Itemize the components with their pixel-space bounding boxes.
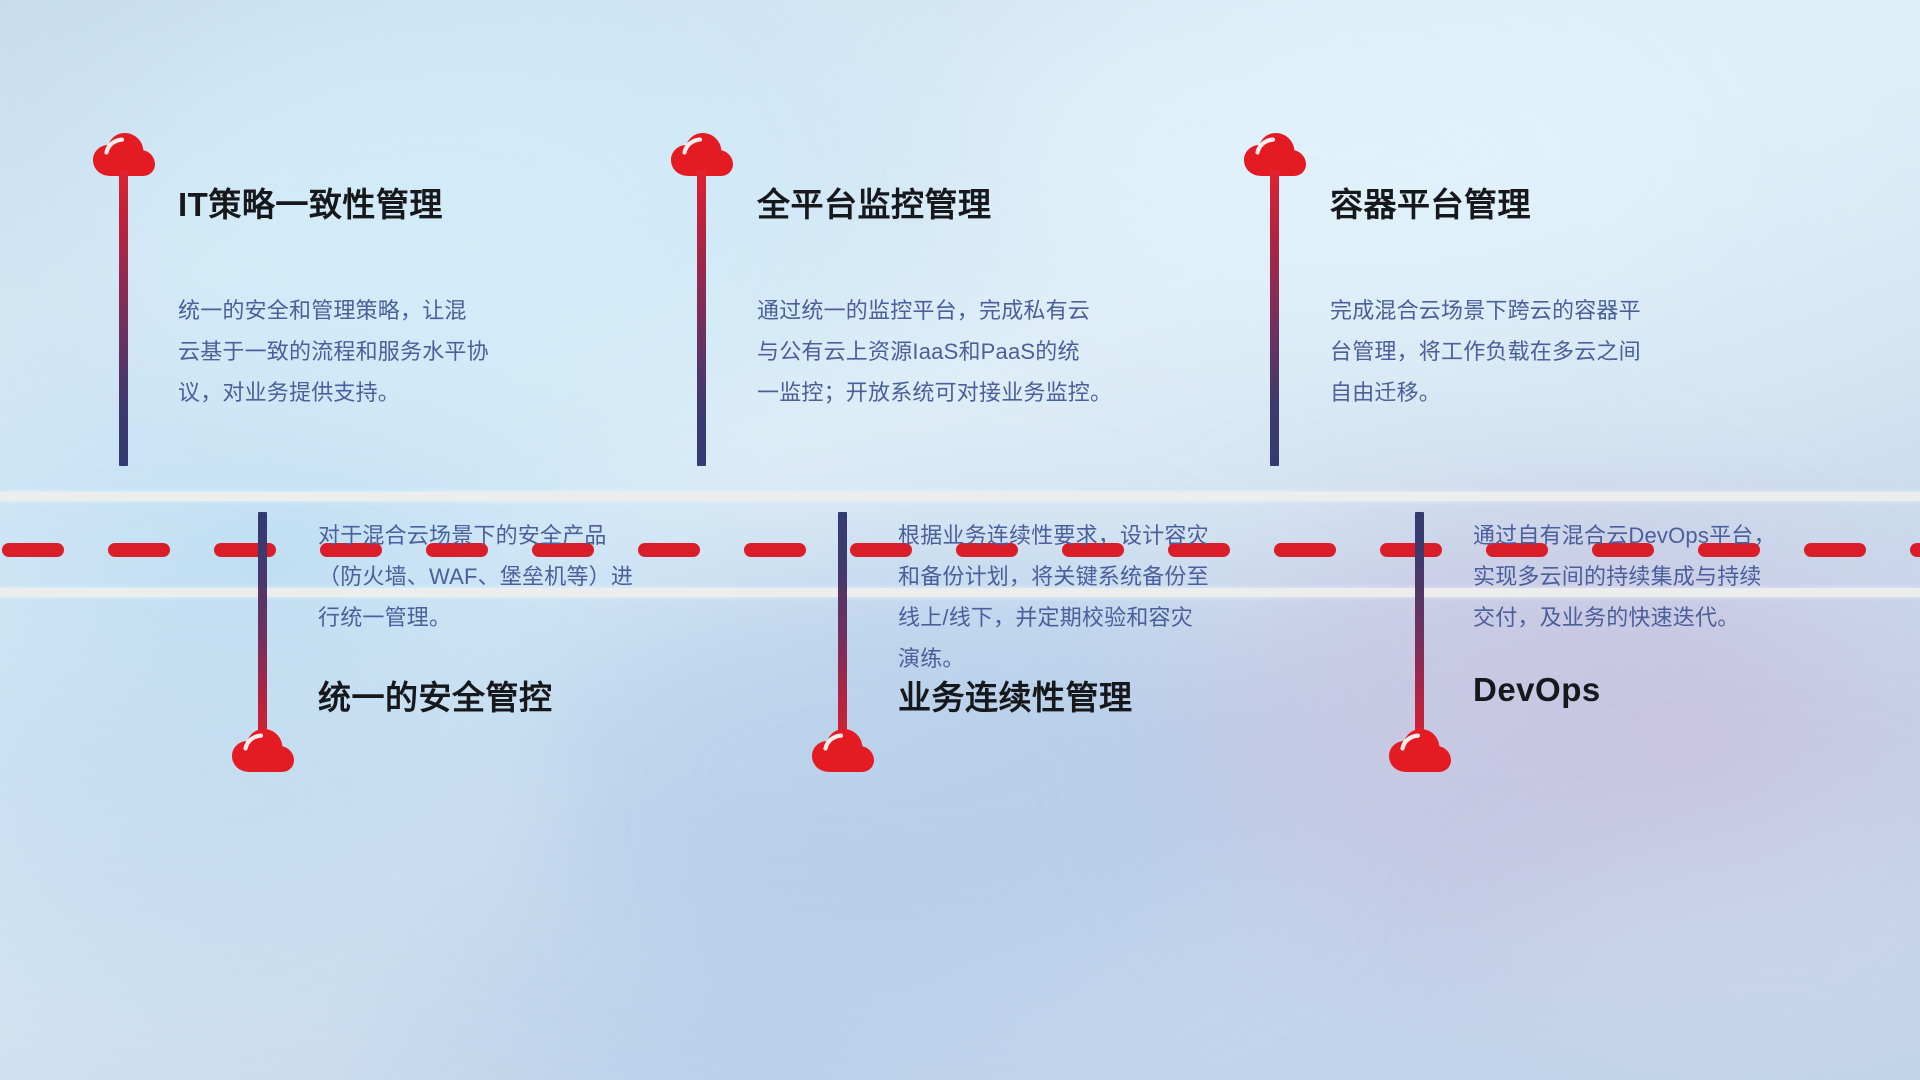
pin-stem — [697, 170, 706, 466]
background-haze-blob — [1500, 820, 1920, 1080]
card-body: 完成混合云场景下跨云的容器平 台管理，将工作负载在多云之间 自由迁移。 — [1330, 290, 1730, 413]
card-body-line: （防火墙、WAF、堡垒机等）进 — [318, 556, 718, 597]
card-body: 根据业务连续性要求，设计容灾 和备份计划，将关键系统备份至 线上/线下，并定期校… — [898, 515, 1298, 679]
card-title: 业务连续性管理 — [898, 671, 1133, 719]
card-body-line: 和备份计划，将关键系统备份至 — [898, 556, 1298, 597]
pin-stem — [1415, 512, 1424, 750]
cloud-icon — [1389, 729, 1451, 773]
road-dash — [108, 543, 170, 557]
card-body-line: 台管理，将工作负载在多云之间 — [1330, 331, 1730, 372]
card-title: 全平台监控管理 — [757, 178, 992, 226]
pin-stem — [838, 512, 847, 750]
card-body: 通过统一的监控平台，完成私有云 与公有云上资源IaaS和PaaS的统 一监控；开… — [757, 290, 1157, 413]
pin-stem — [258, 512, 267, 750]
road-edge-line-top — [0, 492, 1920, 501]
infographic-canvas: IT策略一致性管理 统一的安全和管理策略，让混 云基于一致的流程和服务水平协 议… — [0, 0, 1920, 1080]
card-title: DevOps — [1473, 671, 1601, 709]
road-dash — [744, 543, 806, 557]
card-body: 统一的安全和管理策略，让混 云基于一致的流程和服务水平协 议，对业务提供支持。 — [178, 290, 578, 413]
card-body-line: 行统一管理。 — [318, 597, 718, 638]
card-title: IT策略一致性管理 — [178, 178, 443, 226]
card-body-line: 与公有云上资源IaaS和PaaS的统 — [757, 331, 1157, 372]
cloud-icon — [812, 729, 874, 773]
road-dash — [2, 543, 64, 557]
cloud-icon — [232, 729, 294, 773]
pin-stem — [119, 170, 128, 466]
card-body-line: 对于混合云场景下的安全产品 — [318, 515, 718, 556]
background-haze-blob — [980, 0, 1700, 300]
card-body-line: 根据业务连续性要求，设计容灾 — [898, 515, 1298, 556]
road-dash — [1380, 543, 1442, 557]
card-body-line: 通过自有混合云DevOps平台， — [1473, 515, 1873, 556]
road-dash — [1910, 543, 1920, 557]
card-body-line: 一监控；开放系统可对接业务监控。 — [757, 372, 1157, 413]
card-body: 对于混合云场景下的安全产品 （防火墙、WAF、堡垒机等）进 行统一管理。 — [318, 515, 718, 638]
card-body-line: 议，对业务提供支持。 — [178, 372, 578, 413]
pin-stem — [1270, 170, 1279, 466]
card-body-line: 交付，及业务的快速迭代。 — [1473, 597, 1873, 638]
card-body-line: 通过统一的监控平台，完成私有云 — [757, 290, 1157, 331]
card-body-line: 自由迁移。 — [1330, 372, 1730, 413]
card-body-line: 云基于一致的流程和服务水平协 — [178, 331, 578, 372]
card-body-line: 完成混合云场景下跨云的容器平 — [1330, 290, 1730, 331]
card-title: 统一的安全管控 — [318, 671, 553, 719]
card-body-line: 统一的安全和管理策略，让混 — [178, 290, 578, 331]
card-body: 通过自有混合云DevOps平台， 实现多云间的持续集成与持续 交付，及业务的快速… — [1473, 515, 1873, 638]
card-title: 容器平台管理 — [1330, 178, 1531, 226]
card-body-line: 线上/线下，并定期校验和容灾 — [898, 597, 1298, 638]
card-body-line: 实现多云间的持续集成与持续 — [1473, 556, 1873, 597]
